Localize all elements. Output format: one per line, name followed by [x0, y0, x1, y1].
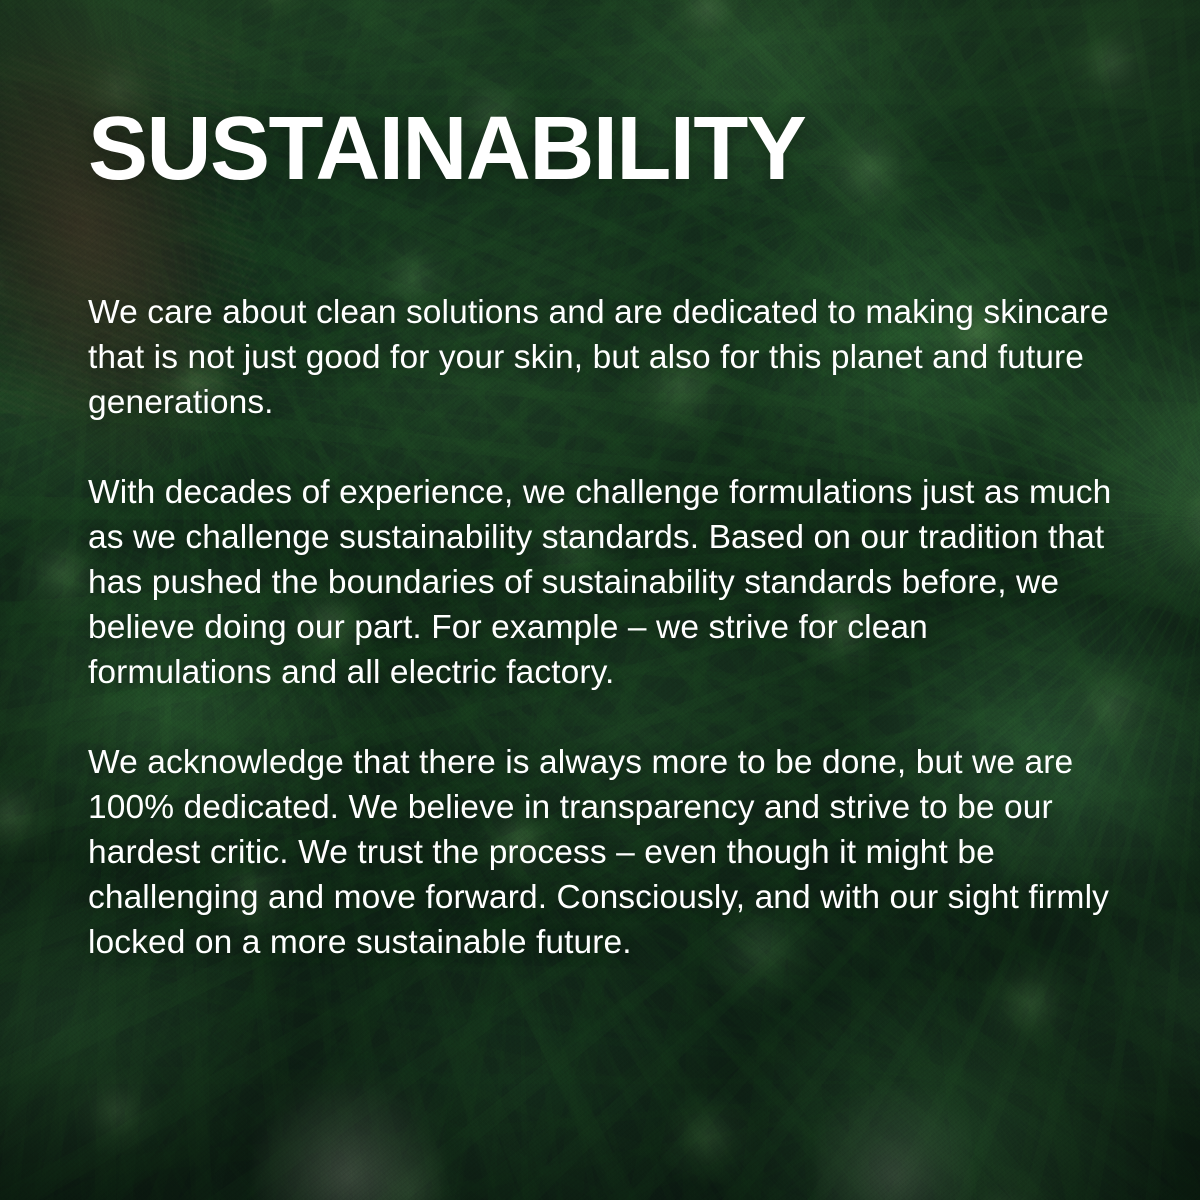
- page-title: SUSTAINABILITY: [88, 104, 805, 194]
- sustainability-page: SUSTAINABILITY We care about clean solut…: [0, 0, 1200, 1200]
- content-block: SUSTAINABILITY We care about clean solut…: [88, 0, 1148, 1200]
- body-copy: We care about clean solutions and are de…: [88, 290, 1120, 965]
- paragraph-acknowledgement: We acknowledge that there is always more…: [88, 740, 1120, 965]
- paragraph-experience: With decades of experience, we challenge…: [88, 470, 1120, 695]
- paragraph-intro: We care about clean solutions and are de…: [88, 290, 1120, 425]
